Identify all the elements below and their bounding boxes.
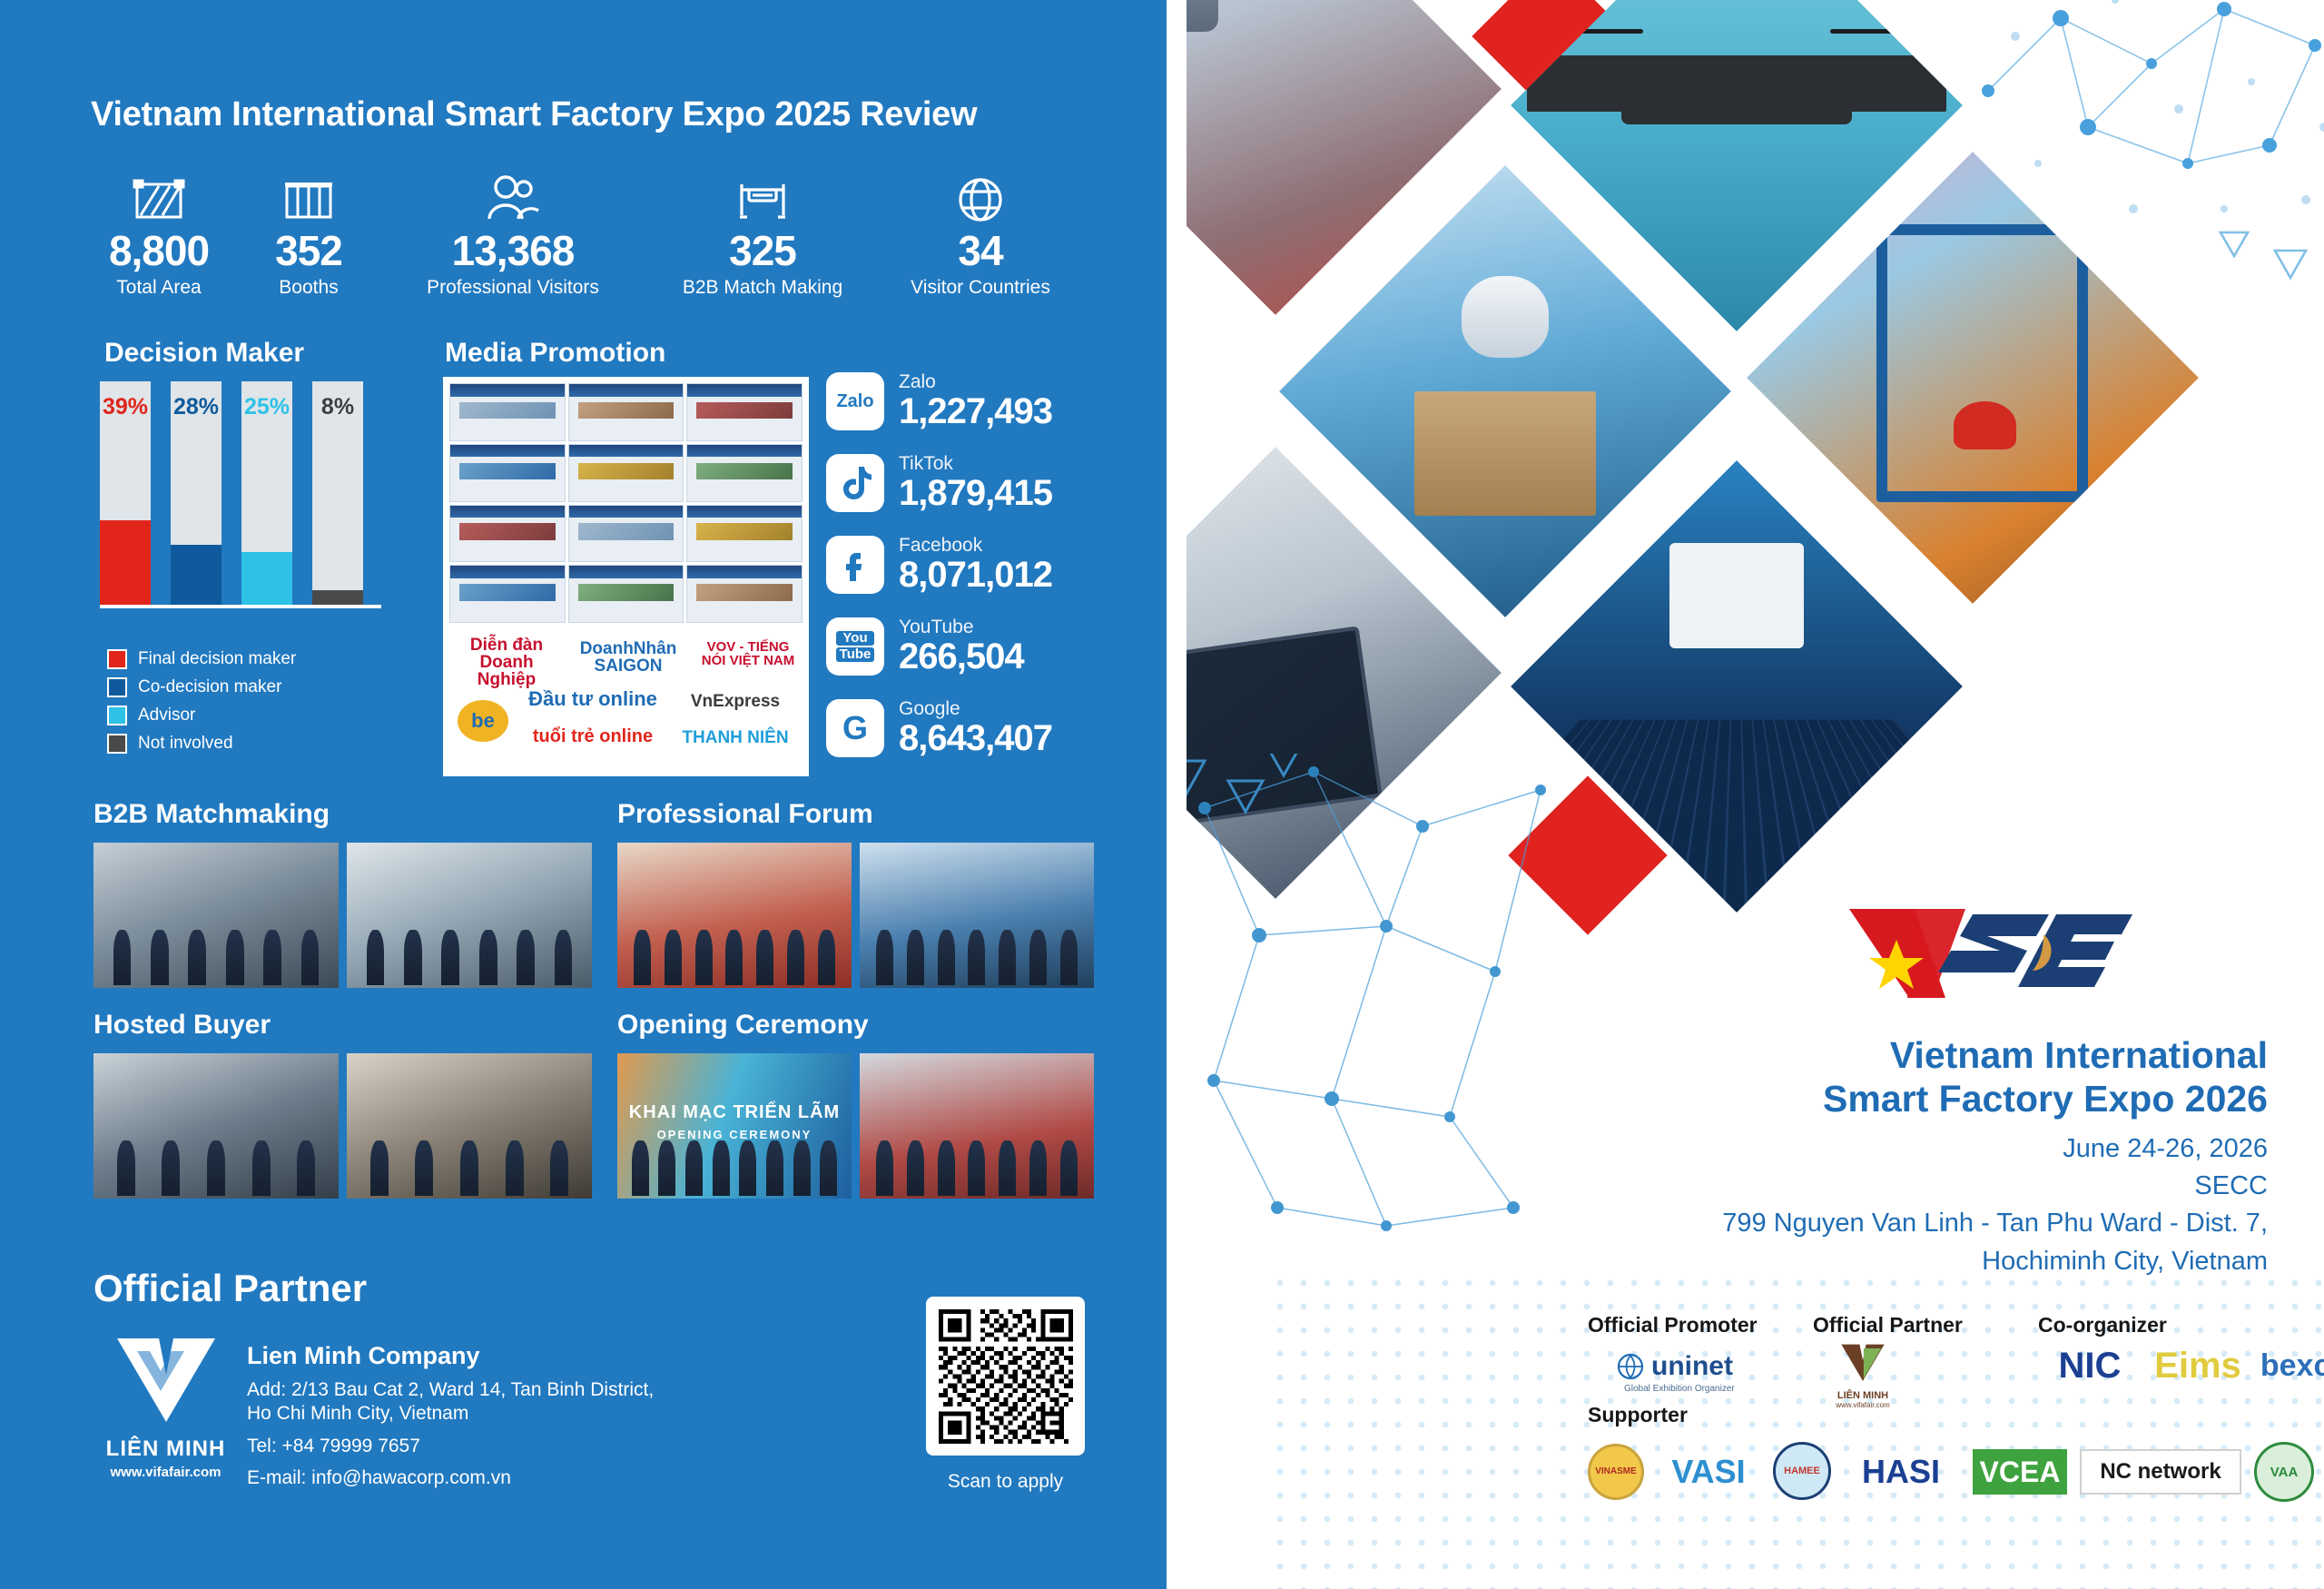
sponsor-heading-official-promoter: Official Promoter xyxy=(1588,1313,1758,1337)
news-clipping xyxy=(686,565,803,623)
facebook-icon xyxy=(826,536,884,594)
social-stat-youtube: You Tube YouTube 266,504 xyxy=(826,613,1052,680)
bar-final-decision-maker: 39% xyxy=(100,381,151,608)
event-address-line1: 799 Nguyen Van Linh - Tan Phu Ward - Dis… xyxy=(1487,1205,2268,1242)
press-logo-vnexpress: VnExpress xyxy=(672,693,799,710)
stat-value: 13,368 xyxy=(377,230,649,271)
sponsor-heading-supporter: Supporter xyxy=(1588,1403,1688,1427)
stat-value: 352 xyxy=(241,230,377,271)
chart-legend: Final decision maker Co-decision maker A… xyxy=(107,649,296,762)
gallery-photo xyxy=(617,843,852,988)
zalo-icon: Zalo xyxy=(826,372,884,430)
sponsor-logo-hamee: HAMEE xyxy=(1773,1442,1831,1500)
gallery-photo-opening-stage: KHAI MẠC TRIỂN LÃM OPENING CEREMONY xyxy=(617,1053,852,1199)
bar-fill xyxy=(171,545,222,608)
press-logo-vov: VOV - TIẾNG NÓI VIỆT NAM xyxy=(697,640,799,667)
lien-minh-mark-small-icon xyxy=(1838,1342,1887,1384)
sponsor-logo-nc-network: NC network xyxy=(2080,1449,2241,1495)
qr-code[interactable] xyxy=(926,1297,1085,1456)
lien-minh-logo-name: LIÊN MINH xyxy=(95,1436,236,1462)
booth-icon xyxy=(241,168,377,224)
stat-professional-visitors: 13,368 Professional Visitors xyxy=(377,168,649,299)
sponsor-logo-lien-minh-web: www.vifafair.com xyxy=(1822,1401,1904,1409)
uninet-mark-icon xyxy=(1615,1351,1646,1382)
lien-minh-logo: LIÊN MINH www.vifafair.com xyxy=(95,1333,236,1480)
visitors-icon xyxy=(377,168,649,224)
press-logo-be: be xyxy=(458,700,508,742)
gallery-photo xyxy=(94,843,339,988)
gallery-heading-b2b: B2B Matchmaking xyxy=(94,799,330,830)
sponsor-heading-official-partner: Official Partner xyxy=(1813,1313,1963,1337)
sponsor-logo-vaa: VAA xyxy=(2254,1442,2314,1502)
social-name: Google xyxy=(899,699,1052,719)
chart-baseline xyxy=(100,605,381,608)
bar-group: 39% 28% 25% 8% xyxy=(100,377,381,608)
stat-visitor-countries: 34 Visitor Countries xyxy=(876,168,1085,299)
gallery-photo xyxy=(347,843,592,988)
decision-maker-chart: 39% 28% 25% 8% xyxy=(100,377,381,627)
panel-divider xyxy=(1167,0,1187,1589)
review-panel: Vietnam International Smart Factory Expo… xyxy=(0,0,1167,1589)
sponsor-logo-eims: Eims xyxy=(2145,1344,2250,1387)
social-stat-google: G Google 8,643,407 xyxy=(826,695,1052,762)
lien-minh-mark xyxy=(112,1333,221,1428)
bar-value-label: 39% xyxy=(103,396,148,419)
event-title-line2: Smart Factory Expo 2026 xyxy=(1487,1077,2268,1120)
bar-fill xyxy=(241,552,292,609)
social-stat-zalo: Zalo Zalo 1,227,493 xyxy=(826,368,1052,435)
stat-label: Booths xyxy=(241,277,377,299)
legend-swatch xyxy=(107,706,127,725)
partner-contact-info: Lien Minh Company Add: 2/13 Bau Cat 2, W… xyxy=(247,1342,654,1490)
partner-email: E-mail: info@hawacorp.com.vn xyxy=(247,1466,654,1490)
page-title: Vietnam International Smart Factory Expo… xyxy=(91,95,977,134)
news-clipping xyxy=(568,444,684,502)
sponsor-logo-bexco: bexco xyxy=(2250,1346,2324,1386)
poster-page: Vietnam International Smart Factory Expo… xyxy=(0,0,2324,1589)
matchmaking-icon xyxy=(649,168,876,224)
news-clipping xyxy=(449,505,566,563)
press-logo-dien-dan-doanh-nghiep: Diễn đàn Doanh Nghiệp xyxy=(454,637,559,688)
gallery-opening-ceremony: KHAI MẠC TRIỂN LÃM OPENING CEREMONY xyxy=(617,1053,1094,1199)
social-name: Zalo xyxy=(899,372,1052,392)
stat-label: Total Area xyxy=(77,277,241,299)
event-venue: SECC xyxy=(1487,1168,2268,1205)
stat-value: 325 xyxy=(649,230,876,271)
social-name: YouTube xyxy=(899,617,1024,637)
press-logo-dau-tu-online: Đầu tư online xyxy=(525,689,661,709)
legend-item: Advisor xyxy=(107,706,296,725)
lien-minh-logo-web: www.vifafair.com xyxy=(95,1465,236,1480)
gallery-professional-forum xyxy=(617,843,1094,988)
event-meta: June 24-26, 2026 SECC 799 Nguyen Van Lin… xyxy=(1487,1130,2268,1280)
news-clipping-grid xyxy=(447,380,805,626)
sponsor-logo-hasi: HASI xyxy=(1842,1451,1960,1493)
bar-not-involved: 8% xyxy=(312,381,363,608)
partner-address-line2: Ho Chi Minh City, Vietnam xyxy=(247,1402,654,1426)
social-value: 266,504 xyxy=(899,637,1024,676)
news-clipping xyxy=(568,505,684,563)
legend-label: Advisor xyxy=(138,706,195,725)
news-clipping xyxy=(449,444,566,502)
event-title-line1: Vietnam International xyxy=(1487,1033,2268,1077)
partner-tel: Tel: +84 79999 7657 xyxy=(247,1435,654,1458)
stat-label: Professional Visitors xyxy=(377,277,649,299)
media-clippings-card: Diễn đàn Doanh Nghiệp DoanhNhân SAIGON V… xyxy=(443,377,809,776)
sponsor-logo-vcea: VCEA xyxy=(1973,1449,2067,1495)
sponsor-logo-nic: NIC xyxy=(2040,1344,2140,1387)
stat-label: B2B Match Making xyxy=(649,277,876,299)
sponsor-logo-lien-minh: LIÊN MINH www.vifafair.com xyxy=(1822,1342,1904,1409)
legend-swatch xyxy=(107,734,127,754)
event-title: Vietnam International Smart Factory Expo… xyxy=(1487,1033,2268,1121)
sponsor-logo-vinasme: VINASME xyxy=(1588,1444,1644,1500)
legend-swatch xyxy=(107,677,127,697)
social-value: 1,227,493 xyxy=(899,392,1052,430)
social-value: 8,643,407 xyxy=(899,719,1052,757)
opening-caption-line1: KHAI MẠC TRIỂN LÃM xyxy=(617,1102,852,1123)
sponsor-logo-lien-minh-name: LIÊN MINH xyxy=(1822,1390,1904,1401)
globe-icon xyxy=(876,168,1085,224)
gallery-photo xyxy=(94,1053,339,1199)
sponsor-logo-uninet-text: uninet xyxy=(1651,1353,1733,1380)
stat-value: 8,800 xyxy=(77,230,241,271)
media-promotion-heading: Media Promotion xyxy=(445,338,665,369)
social-value: 1,879,415 xyxy=(899,474,1052,512)
area-plan-icon xyxy=(77,168,241,224)
gallery-photo xyxy=(860,1053,1094,1199)
legend-label: Final decision maker xyxy=(138,649,296,669)
stat-total-area: 8,800 Total Area xyxy=(77,168,241,299)
hero-panel: Vietnam International Smart Factory Expo… xyxy=(1187,0,2324,1589)
partner-address-line1: Add: 2/13 Bau Cat 2, Ward 14, Tan Binh D… xyxy=(247,1378,654,1402)
google-icon: G xyxy=(826,699,884,757)
legend-item: Not involved xyxy=(107,734,296,754)
bar-value-label: 8% xyxy=(321,396,354,419)
gallery-photo xyxy=(860,843,1094,988)
bar-value-label: 28% xyxy=(173,396,219,419)
sponsor-logo-vasi: VASI xyxy=(1655,1451,1762,1493)
press-logo-doanh-nhan-saigon: DoanhNhân SAIGON xyxy=(568,640,688,675)
news-clipping xyxy=(686,444,803,502)
partner-company-name: Lien Minh Company xyxy=(247,1342,654,1370)
news-clipping xyxy=(568,565,684,623)
bar-fill xyxy=(100,520,151,609)
social-value: 8,071,012 xyxy=(899,556,1052,594)
gallery-hosted-buyer xyxy=(94,1053,592,1199)
bar-value-label: 25% xyxy=(244,396,290,419)
news-clipping xyxy=(449,565,566,623)
legend-swatch xyxy=(107,649,127,669)
news-clipping xyxy=(686,383,803,441)
tiktok-icon xyxy=(826,454,884,512)
decision-maker-heading: Decision Maker xyxy=(104,338,304,369)
official-partner-heading: Official Partner xyxy=(94,1267,367,1310)
sponsor-logo-uninet-tagline: Global Exhibition Organizer xyxy=(1624,1384,1735,1394)
bar-co-decision-maker: 28% xyxy=(171,381,222,608)
press-logo-tuoi-tre: tuổi trẻ online xyxy=(525,727,661,745)
gallery-heading-hosted-buyer: Hosted Buyer xyxy=(94,1010,271,1041)
social-name: TikTok xyxy=(899,454,1052,474)
legend-item: Co-decision maker xyxy=(107,677,296,697)
sponsor-logo-uninet: uninet xyxy=(1588,1346,1760,1387)
news-clipping xyxy=(568,383,684,441)
social-stats-list: Zalo Zalo 1,227,493 TikTok 1,879,415 xyxy=(826,368,1052,776)
legend-item: Final decision maker xyxy=(107,649,296,669)
social-stat-tiktok: TikTok 1,879,415 xyxy=(826,449,1052,517)
stat-value: 34 xyxy=(876,230,1085,271)
vse-logo xyxy=(1846,903,2136,1003)
legend-label: Co-decision maker xyxy=(138,677,281,697)
qr-code-image xyxy=(939,1309,1073,1444)
news-clipping xyxy=(449,383,566,441)
gallery-photo xyxy=(347,1053,592,1199)
bar-advisor: 25% xyxy=(241,381,292,608)
stat-booths: 352 Booths xyxy=(241,168,377,299)
gallery-heading-forum: Professional Forum xyxy=(617,799,873,830)
stat-b2b-matchmaking: 325 B2B Match Making xyxy=(649,168,876,299)
press-logo-thanh-nien: THANH NIÊN xyxy=(672,729,799,746)
social-stat-facebook: Facebook 8,071,012 xyxy=(826,531,1052,598)
gallery-b2b xyxy=(94,843,592,988)
stats-row: 8,800 Total Area 352 Booths xyxy=(77,168,1103,299)
legend-label: Not involved xyxy=(138,734,233,754)
youtube-icon: You Tube xyxy=(826,617,884,676)
sponsor-heading-co-organizer: Co-organizer xyxy=(2038,1313,2167,1337)
press-logo-grid: Diễn đàn Doanh Nghiệp DoanhNhân SAIGON V… xyxy=(450,633,802,769)
stat-label: Visitor Countries xyxy=(876,277,1085,299)
social-name: Facebook xyxy=(899,536,1052,556)
qr-caption: Scan to apply xyxy=(926,1471,1085,1493)
gallery-heading-opening-ceremony: Opening Ceremony xyxy=(617,1010,869,1041)
news-clipping xyxy=(686,505,803,563)
event-date: June 24-26, 2026 xyxy=(1487,1130,2268,1168)
